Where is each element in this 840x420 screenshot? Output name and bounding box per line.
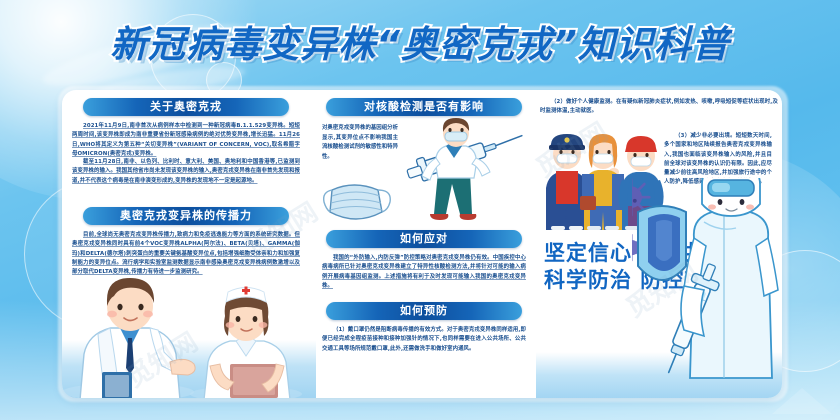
section-header-how-to-prevent: 如何预防	[316, 302, 532, 320]
content-card: 觅知网 觅知网 觅知网 觅知网 关于奥密克戎 2021年11月9日,南非首次从病…	[62, 90, 782, 398]
poster-title-wrap: 新冠病毒变异株“奥密克戎”知识科普	[0, 14, 840, 68]
pcr-impact-paragraph-1: 对奥密克戎变异株的基因组分析显示,其变异位点不影响我国主流核酸检测试剂的敏感性和…	[322, 124, 398, 163]
section-heading-label: 奥密克戎变异株的传播力	[83, 207, 289, 225]
section-heading-label: 如何预防	[326, 302, 522, 320]
about-omicron-paragraph-1: 2021年11月9日,南非首次从病例样本中检测到一种新冠病毒B.1.1.529变…	[72, 122, 300, 159]
transmissibility-paragraph-1: 目前,全球尚无奥密克戎变异株传播力,致病力和免疫逃逸能力等方面的系统研究数据。但…	[72, 231, 300, 277]
section-heading-label: 关于奥密克戎	[83, 98, 289, 116]
how-to-prevent-paragraph-1: （1）戴口罩仍然是阻断病毒传播的有效方式。对于奥密克戎变异株同样适用,即便已经完…	[322, 326, 526, 354]
section-heading-label: 对核酸检测是否有影响	[326, 98, 522, 116]
poster-root: 新冠病毒变异株“奥密克戎”知识科普 觅知网 觅知网 觅知网 觅知网 关于奥密克戎…	[0, 0, 840, 420]
about-omicron-paragraph-2: 截至11月28日,南非、以色列、比利时、意大利、美国、奥地利和中国香港等,已监测…	[72, 158, 300, 186]
section-header-how-to-respond: 如何应对	[316, 230, 532, 248]
section-heading-label: 如何应对	[326, 230, 522, 248]
how-to-respond-paragraph-1: 我国的“外防输入,内防反弹”防控策略对奥密克戎变异株仍有效。中国疾控中心病毒病所…	[322, 254, 526, 291]
ppe-worker-shield-syringe-illustration	[632, 178, 782, 398]
doctor-with-syringe-illustration	[402, 118, 530, 226]
section-header-about-omicron: 关于奥密克戎	[70, 98, 302, 116]
face-mask-illustration	[320, 176, 396, 230]
section-header-pcr-impact: 对核酸检测是否有影响	[316, 98, 532, 116]
section-header-transmissibility: 奥密克戎变异株的传播力	[70, 207, 302, 225]
prevention-paragraph-2: （2）做好个人健康监测。在有疑似新冠肺炎症状,例如发热、咳嗽,呼吸短促等症状出现…	[540, 98, 778, 117]
nurse-female-illustration	[184, 286, 310, 398]
poster-title: 新冠病毒变异株“奥密克戎”知识科普	[110, 14, 730, 68]
